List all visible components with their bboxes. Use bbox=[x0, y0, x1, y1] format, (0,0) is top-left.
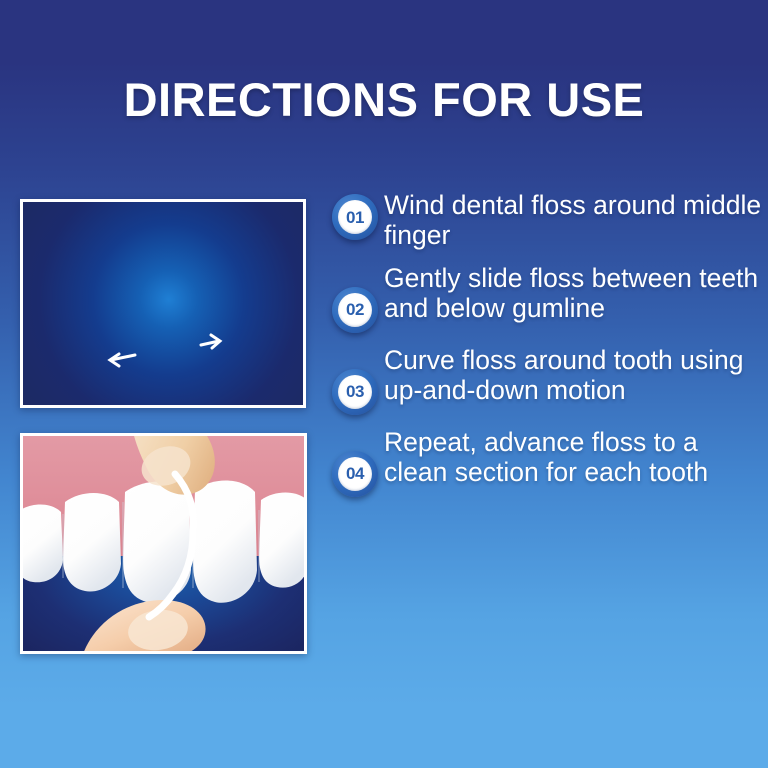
step-item: 03 Curve floss around tooth using up-and… bbox=[326, 345, 768, 415]
panel-teeth-inner bbox=[23, 436, 304, 651]
step-badge-wrap: 01 bbox=[326, 190, 384, 240]
step-badge-pin-icon: 02 bbox=[332, 287, 378, 333]
panel-floss-inner: 45cm bbox=[23, 202, 303, 405]
step-item: 01 Wind dental floss around middle finge… bbox=[326, 190, 768, 251]
poster: DIRECTIONS FOR USE bbox=[0, 0, 768, 768]
page-title: DIRECTIONS FOR USE bbox=[0, 76, 768, 123]
step-badge-pin-icon: 03 bbox=[332, 369, 378, 415]
step-badge-wrap: 03 bbox=[326, 345, 384, 415]
step-badge-pin-icon: 01 bbox=[332, 194, 378, 240]
step-text: Gently slide floss between teeth and bel… bbox=[384, 263, 768, 324]
panel-floss-background bbox=[23, 202, 303, 405]
illustration-panel-floss-length: 45cm bbox=[20, 199, 306, 408]
step-badge-disc: 04 bbox=[338, 457, 372, 491]
step-text: Repeat, advance floss to a clean section… bbox=[384, 427, 768, 488]
step-number: 03 bbox=[346, 383, 364, 400]
step-badge-pin-icon: 04 bbox=[332, 451, 378, 497]
step-number: 01 bbox=[346, 209, 364, 226]
step-badge-wrap: 02 bbox=[326, 263, 384, 333]
step-number: 02 bbox=[346, 301, 364, 318]
step-item: 04 Repeat, advance floss to a clean sect… bbox=[326, 427, 768, 497]
step-item: 02 Gently slide floss between teeth and … bbox=[326, 263, 768, 333]
steps-list: 01 Wind dental floss around middle finge… bbox=[326, 190, 768, 509]
step-badge-disc: 02 bbox=[338, 293, 372, 327]
teeth-flossing-illustration bbox=[23, 436, 304, 651]
step-badge-wrap: 04 bbox=[326, 427, 384, 497]
illustration-panel-flossing-teeth bbox=[20, 433, 307, 654]
step-badge-disc: 03 bbox=[338, 375, 372, 409]
teeth-row bbox=[23, 480, 304, 602]
step-number: 04 bbox=[346, 465, 364, 482]
step-text: Curve floss around tooth using up-and-do… bbox=[384, 345, 768, 406]
step-badge-disc: 01 bbox=[338, 200, 372, 234]
step-text: Wind dental floss around middle finger bbox=[384, 190, 768, 251]
bottom-finger bbox=[83, 600, 206, 651]
